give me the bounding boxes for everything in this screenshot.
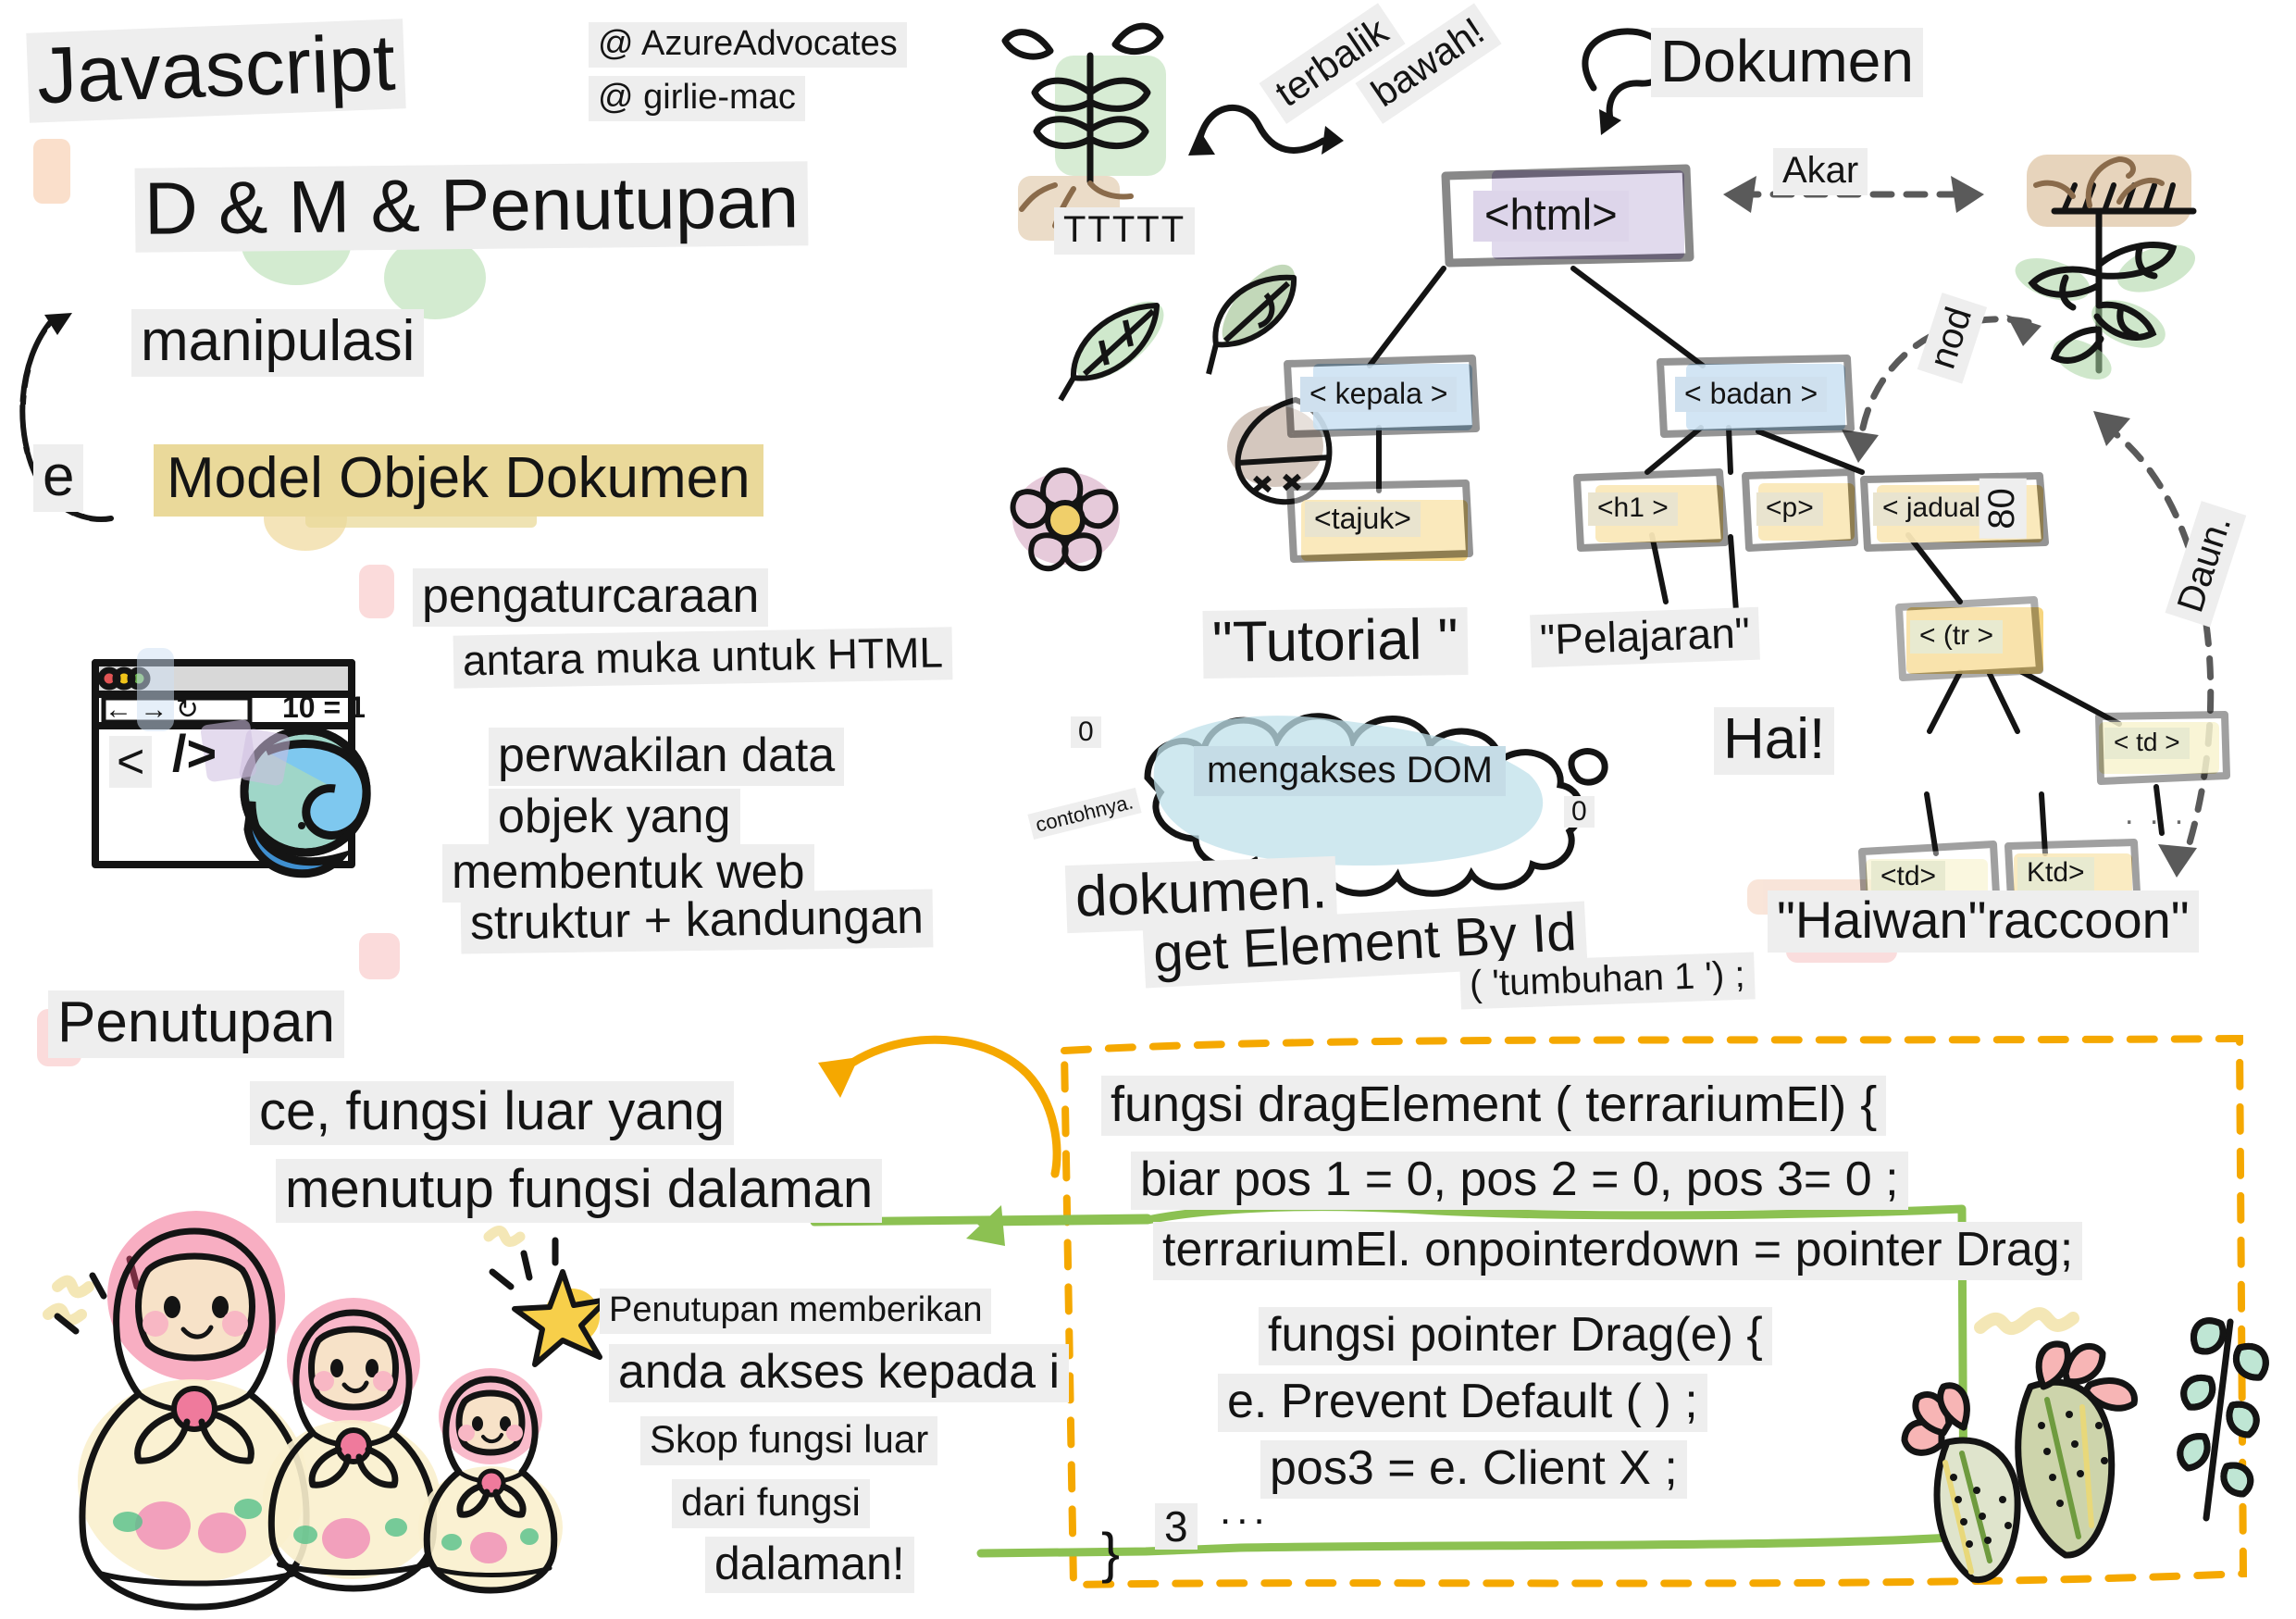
code-tumbuhan-arg: ( 'tumbuhan 1 ') ; [1459,952,1755,1009]
textnode-pelajaran: "Pelajaran" [1530,607,1760,668]
code-line-3: terrariumEl. onpointerdown = pointer Dra… [1153,1222,2082,1280]
code-inner-line-1: fungsi pointer Drag(e) { [1259,1307,1772,1365]
browser-url-label: 10 = 1 [282,692,366,722]
title-e-prefix: e [33,444,83,512]
body-node-label: < badan > [1675,377,1827,412]
matryoshka-dolls-icon [48,1211,563,1607]
note-antara-muka: antara muka untuk HTML [453,627,953,688]
code-inner-line-2: e. Prevent Default ( ) ; [1218,1374,1707,1432]
label-nod: nod [1917,293,1987,383]
title-model-objek-dokumen: Model Objek Dokumen [154,444,763,517]
closure-note1: Penutupan memberikan [600,1289,991,1334]
tr-node-label: < (tr > [1910,620,2003,654]
code-line-2: biar pos 1 = 0, pos 2 = 0, pos 3= 0 ; [1131,1152,1908,1210]
handle-org: @ AzureAdvocates [589,22,907,68]
td3-node-label: < td > [2104,728,2190,759]
note-perwakilan-data: perwakilan data [489,728,844,786]
back-icon[interactable]: ← [105,694,132,725]
browser-code-slash: /> [172,728,217,779]
edge-logo-icon [244,730,366,874]
handle-person: @ girlie-mac [589,76,805,121]
closure-note4: dari fungsi [672,1479,870,1528]
upside-down-plant-icon [2010,155,2202,388]
label-80: 80 [1980,479,2027,539]
bracket-arrowhead [966,1205,1005,1246]
closure-note5: dalaman! [705,1537,914,1593]
code-inner-line-3: pos3 = e. Client X ; [1260,1440,1687,1499]
textnode-haiwan-raccoon: "Haiwan"raccoon" [1768,890,2199,953]
td2-node-label: Ktd> [2017,857,2094,890]
tree-heading-dokumen: Dokumen [1651,28,1923,97]
textnode-hai: Hai! [1714,707,1834,775]
closure-line2: menutup fungsi dalaman [276,1159,882,1223]
sketchnote-canvas: <html> < kepala > < badan > <tajuk> <h1 … [0,0,2296,1619]
head-node-label: < kepala > [1300,377,1457,412]
cloud-label-mengakses-dom: mengakses DOM [1194,746,1506,796]
forward-icon[interactable]: → [140,694,168,725]
closure-note3: Skop fungsi luar [640,1416,937,1465]
note-struktur-kandungan: struktur + kandungan [461,889,934,953]
code-line-1: fungsi dragElement ( terrariumEl) { [1101,1076,1886,1136]
label-akar: Akar [1773,148,1868,195]
label-zero-right: 0 [1564,796,1595,828]
closure-line1: ce, fungsi luar yang [250,1081,734,1145]
label-daun: Daun. [2166,501,2247,627]
textnode-tutorial: "Tutorial " [1203,607,1469,679]
browser-nav-icons[interactable]: ← → ↻ [105,696,199,724]
label-contohnya: contohnya. [1027,788,1141,840]
leaf-decorations [1012,253,1331,568]
h1-node-label: <h1 > [1588,492,1678,526]
code-outer-close: } [1101,1526,1120,1581]
closure-curve-arrow [818,1040,1057,1174]
tree-ellipsis: . . . [2125,798,2187,829]
title-manipulasi: manipulasi [131,309,424,377]
closure-heading: Penutupan [48,990,344,1058]
note-pengaturcaraan: pengaturcaraan [413,568,768,627]
star-sparkle-icon [489,1230,607,1364]
code-inner-close: 3 [1155,1503,1198,1550]
title-node-label: <tajuk> [1305,502,1421,537]
title-javascript: Javascript [26,19,406,123]
label-ttttt: TTTTT [1054,207,1195,255]
p-node-label: <p> [1756,492,1823,526]
code-inner-ellipsis: ... [1220,1490,1271,1531]
title-dm-penutupan: D & M & Penutupan [135,161,809,253]
cactus-icon [1905,1314,2265,1580]
label-zero-left: 0 [1071,716,1101,748]
swap-arrow [1188,107,1344,156]
html-node-label: <html> [1473,191,1629,242]
closure-note2: anda akses kepada i [609,1344,1069,1402]
browser-code-lt: < [109,736,152,788]
reload-icon[interactable]: ↻ [176,694,199,725]
note-objek-yang: objek yang [489,789,740,847]
td1-node-label: <td> [1871,861,1945,894]
